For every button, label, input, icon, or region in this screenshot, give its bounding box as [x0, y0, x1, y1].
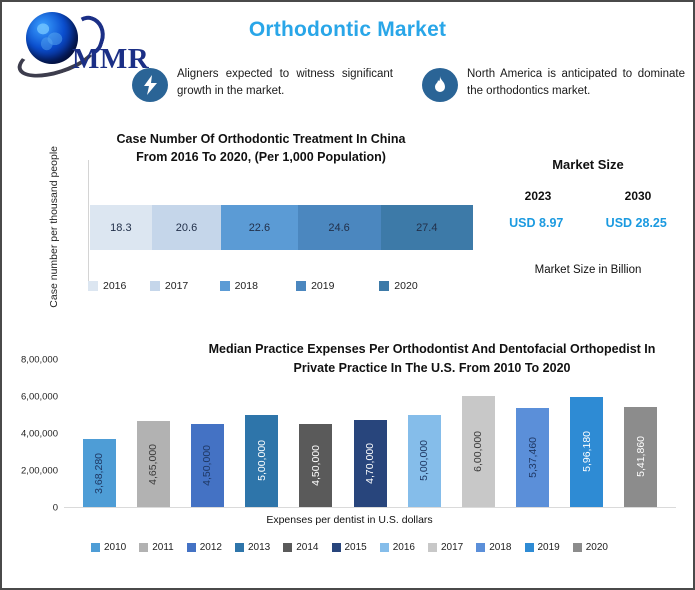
chart-us-legend-item-2010[interactable]: 2010 [91, 542, 126, 553]
chart-us-bar-wrap-2010: 3,68,280 [72, 360, 126, 507]
chart-china-legend-label: 2016 [103, 280, 126, 292]
chart-china-legend-item-2019[interactable]: 2019 [296, 280, 379, 292]
chart-china-stacked-bar: 18.320.622.624.627.4 [90, 205, 473, 250]
chart-us-bar-value: 4,50,000 [201, 445, 213, 486]
chart-us-bar-value: 4,65,000 [147, 444, 159, 485]
chart-china-legend-label: 2019 [311, 280, 334, 292]
legend-swatch-icon [187, 543, 196, 552]
chart-us-bar-value: 3,68,280 [93, 453, 105, 494]
chart-us-bar-wrap-2016: 5,00,000 [397, 360, 451, 507]
chart-us-bar-wrap-2019: 5,96,180 [560, 360, 614, 507]
chart-us-bar-wrap-2011: 4,65,000 [126, 360, 180, 507]
chart-us-legend-item-2012[interactable]: 2012 [187, 542, 222, 553]
chart-us-bar-value: 5,00,000 [418, 440, 430, 481]
legend-swatch-icon [476, 543, 485, 552]
chart-china-legend-item-2017[interactable]: 2017 [150, 280, 220, 292]
legend-swatch-icon [428, 543, 437, 552]
legend-swatch-icon [88, 281, 98, 291]
highlight-text-aligners: Aligners expected to witness significant… [177, 66, 393, 101]
market-size-value-2023: USD 8.97 [509, 216, 563, 230]
chart-us-legend-item-2020[interactable]: 2020 [573, 542, 608, 553]
chart-china-segment-value: 20.6 [176, 222, 197, 234]
chart-us-legend: 2010201120122013201420152016201720182019… [2, 542, 695, 553]
chart-us-legend-label: 2012 [200, 542, 222, 553]
chart-us-legend-item-2017[interactable]: 2017 [428, 542, 463, 553]
chart-us-legend-item-2014[interactable]: 2014 [283, 542, 318, 553]
chart-us-legend-item-2013[interactable]: 2013 [235, 542, 270, 553]
market-size-year-2030: 2030 [625, 189, 652, 203]
chart-us-y-tick-400000: 4,00,000 [6, 429, 58, 440]
chart-china-legend-label: 2020 [394, 280, 417, 292]
legend-swatch-icon [379, 281, 389, 291]
legend-swatch-icon [296, 281, 306, 291]
market-size-panel: Market Size 2023 2030 USD 8.97 USD 28.25… [488, 157, 688, 307]
chart-china-legend-label: 2017 [165, 280, 188, 292]
chart-us-bar-2016: 5,00,000 [408, 415, 441, 508]
chart-china-y-axis-label: Case number per thousand people [46, 162, 62, 292]
chart-us-plot-area: 02,00,0004,00,0006,00,0008,00,000 3,68,2… [64, 360, 676, 508]
chart-china-legend-item-2016[interactable]: 2016 [88, 280, 150, 292]
chart-china-legend: 20162017201820192020 [88, 280, 472, 292]
chart-china-plot-area: 18.320.622.624.627.4 [88, 160, 473, 290]
chart-us-expenses: Median Practice Expenses Per Orthodontis… [2, 332, 695, 587]
chart-us-legend-item-2011[interactable]: 2011 [139, 542, 174, 553]
chart-us-bar-wrap-2020: 5,41,860 [614, 360, 668, 507]
legend-swatch-icon [283, 543, 292, 552]
page-title: Orthodontic Market [2, 18, 693, 42]
bolt-icon [132, 68, 168, 102]
chart-china-cases: Case Number Of Orthodontic Treatment In … [42, 130, 472, 305]
chart-us-bar-2012: 4,50,000 [191, 424, 224, 507]
chart-china-segment-2017: 20.6 [152, 205, 222, 250]
chart-us-bar-wrap-2018: 5,37,460 [506, 360, 560, 507]
chart-us-legend-label: 2020 [586, 542, 608, 553]
chart-us-bar-2017: 6,00,000 [462, 396, 495, 507]
chart-china-title-line1: Case Number Of Orthodontic Treatment In … [66, 130, 456, 148]
legend-swatch-icon [220, 281, 230, 291]
highlight-text-north-america: North America is anticipated to dominate… [467, 66, 685, 101]
legend-swatch-icon [139, 543, 148, 552]
chart-us-legend-item-2016[interactable]: 2016 [380, 542, 415, 553]
chart-us-legend-label: 2017 [441, 542, 463, 553]
chart-us-bar-wrap-2014: 4,50,000 [289, 360, 343, 507]
chart-us-bars: 3,68,2804,65,0004,50,0005,00,0004,50,000… [72, 360, 668, 507]
infographic-page: MMR Orthodontic Market Aligners expected… [0, 0, 695, 590]
chart-us-bar-2013: 5,00,000 [245, 415, 278, 508]
chart-china-segment-2019: 24.6 [298, 205, 381, 250]
chart-us-bar-value: 6,00,000 [472, 431, 484, 472]
chart-us-bar-wrap-2017: 6,00,000 [451, 360, 505, 507]
chart-us-bar-2018: 5,37,460 [516, 408, 549, 507]
chart-china-segment-value: 24.6 [328, 222, 349, 234]
chart-us-bar-wrap-2013: 5,00,000 [235, 360, 289, 507]
chart-us-legend-item-2018[interactable]: 2018 [476, 542, 511, 553]
market-size-title: Market Size [488, 157, 688, 172]
legend-swatch-icon [235, 543, 244, 552]
chart-us-bar-value: 5,37,460 [527, 437, 539, 478]
chart-china-segment-value: 18.3 [110, 222, 131, 234]
chart-us-y-tick-800000: 8,00,000 [6, 355, 58, 366]
chart-china-segment-value: 22.6 [249, 222, 270, 234]
chart-china-segment-value: 27.4 [416, 222, 437, 234]
chart-us-bar-value: 4,50,000 [310, 445, 322, 486]
chart-us-title-line1: Median Practice Expenses Per Orthodontis… [172, 340, 692, 359]
legend-swatch-icon [525, 543, 534, 552]
chart-china-legend-label: 2018 [235, 280, 258, 292]
chart-us-legend-label: 2015 [345, 542, 367, 553]
chart-us-y-tick-200000: 2,00,000 [6, 466, 58, 477]
market-size-year-2023: 2023 [525, 189, 552, 203]
chart-us-y-tick-600000: 6,00,000 [6, 392, 58, 403]
chart-us-legend-item-2019[interactable]: 2019 [525, 542, 560, 553]
market-size-values: USD 8.97 USD 28.25 [488, 216, 688, 230]
chart-china-segment-2020: 27.4 [381, 205, 473, 250]
chart-us-legend-label: 2011 [152, 542, 174, 553]
legend-swatch-icon [380, 543, 389, 552]
chart-us-legend-label: 2016 [393, 542, 415, 553]
chart-us-bar-value: 5,00,000 [256, 440, 268, 481]
header: MMR Orthodontic Market Aligners expected… [2, 2, 693, 124]
chart-us-bar-2019: 5,96,180 [570, 397, 603, 507]
chart-us-bar-wrap-2012: 4,50,000 [180, 360, 234, 507]
chart-us-legend-label: 2013 [248, 542, 270, 553]
chart-china-segment-2016: 18.3 [90, 205, 152, 250]
chart-us-bar-value: 4,70,000 [364, 443, 376, 484]
chart-us-y-tick-0: 0 [6, 503, 58, 514]
highlight-item-aligners: Aligners expected to witness significant… [132, 66, 397, 102]
chart-china-segment-2018: 22.6 [221, 205, 297, 250]
chart-us-legend-label: 2014 [296, 542, 318, 553]
flame-icon [422, 68, 458, 102]
chart-us-bar-2014: 4,50,000 [299, 424, 332, 507]
chart-us-bar-2011: 4,65,000 [137, 421, 170, 507]
chart-us-bar-value: 5,96,180 [581, 431, 593, 472]
chart-us-legend-item-2015[interactable]: 2015 [332, 542, 367, 553]
chart-us-bar-2010: 3,68,280 [83, 439, 116, 507]
chart-us-legend-label: 2018 [489, 542, 511, 553]
chart-us-bar-wrap-2015: 4,70,000 [343, 360, 397, 507]
chart-china-legend-item-2020[interactable]: 2020 [379, 280, 472, 292]
chart-china-legend-item-2018[interactable]: 2018 [220, 280, 296, 292]
market-size-value-2030: USD 28.25 [606, 216, 667, 230]
chart-us-bar-2015: 4,70,000 [354, 420, 387, 507]
chart-us-legend-label: 2019 [538, 542, 560, 553]
chart-us-bar-value: 5,41,860 [635, 436, 647, 477]
legend-swatch-icon [91, 543, 100, 552]
chart-us-x-axis-label: Expenses per dentist in U.S. dollars [2, 514, 695, 526]
highlight-item-north-america: North America is anticipated to dominate… [422, 66, 690, 102]
chart-us-bar-2020: 5,41,860 [624, 407, 657, 507]
chart-us-baseline [64, 507, 676, 508]
legend-swatch-icon [332, 543, 341, 552]
legend-swatch-icon [150, 281, 160, 291]
market-size-years: 2023 2030 [488, 189, 688, 203]
legend-swatch-icon [573, 543, 582, 552]
market-size-footnote: Market Size in Billion [488, 264, 688, 276]
chart-us-legend-label: 2010 [104, 542, 126, 553]
